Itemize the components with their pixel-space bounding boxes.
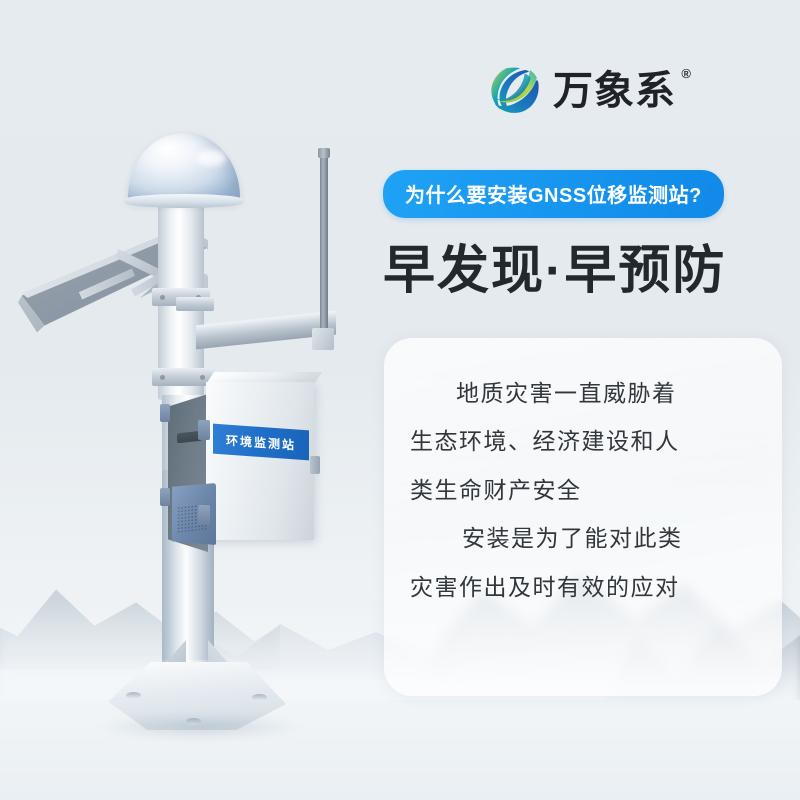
description-line: 安装是为了能对此类 [410,525,756,551]
gnss-antenna-dome-rim [124,194,244,208]
brand-name: 万象系 ® [553,71,676,111]
brand-name-text: 万象系 [553,69,676,113]
base-bolt-hole-left [126,692,141,699]
question-badge: 为什么要安装GNSS位移监测站? [383,170,724,218]
antenna-rod-mount [312,328,334,350]
antenna-rod-cap [318,148,330,158]
monitoring-station-illustration: 环境监测站 [0,0,400,800]
enclosure-side-hinge-upper [160,404,170,422]
antenna-rod [320,152,328,338]
gnss-antenna-dome-highlight [196,150,226,166]
enclosure-hinge-upper [198,420,210,440]
description-line: 类生命财产安全 [410,477,756,503]
registered-trademark-icon: ® [681,67,692,80]
brand-lockup: 万象系 ® [487,63,676,119]
description-panel-text: 地质灾害一直威胁着 生态环境、经济建设和人 类生命财产安全 安装是为了能对此类 … [384,338,782,696]
mast-clamp-middle [176,297,214,311]
poster-canvas: 环境监测站 [0,0,800,800]
gnss-antenna-dome [128,133,240,203]
enclosure-hinge-lower [198,505,210,525]
enclosure-latch [310,456,320,474]
base-bolt-hole-right [252,694,267,701]
clamp-bolt [160,295,165,300]
globe-swirl-logo-icon [487,63,543,119]
mast-clamp-lower [152,368,214,386]
enclosure-side-hinge-lower [160,488,170,506]
content-column: 万象系 ® 为什么要安装GNSS位移监测站? 早发现·早预防 地质灾害一直威胁着… [365,0,800,800]
equipment-ground-shadow [96,714,304,740]
enclosure-front-panel [206,382,314,540]
clamp-bolt [200,375,205,380]
description-line: 灾害作出及时有效的应对 [410,574,756,600]
clamp-bolt [160,375,165,380]
enclosure-label-text: 环境监测站 [226,431,296,453]
description-line: 地质灾害一直威胁着 [410,380,756,406]
description-line: 生态环境、经济建设和人 [410,428,756,454]
page-title: 早发现·早预防 [383,228,726,303]
